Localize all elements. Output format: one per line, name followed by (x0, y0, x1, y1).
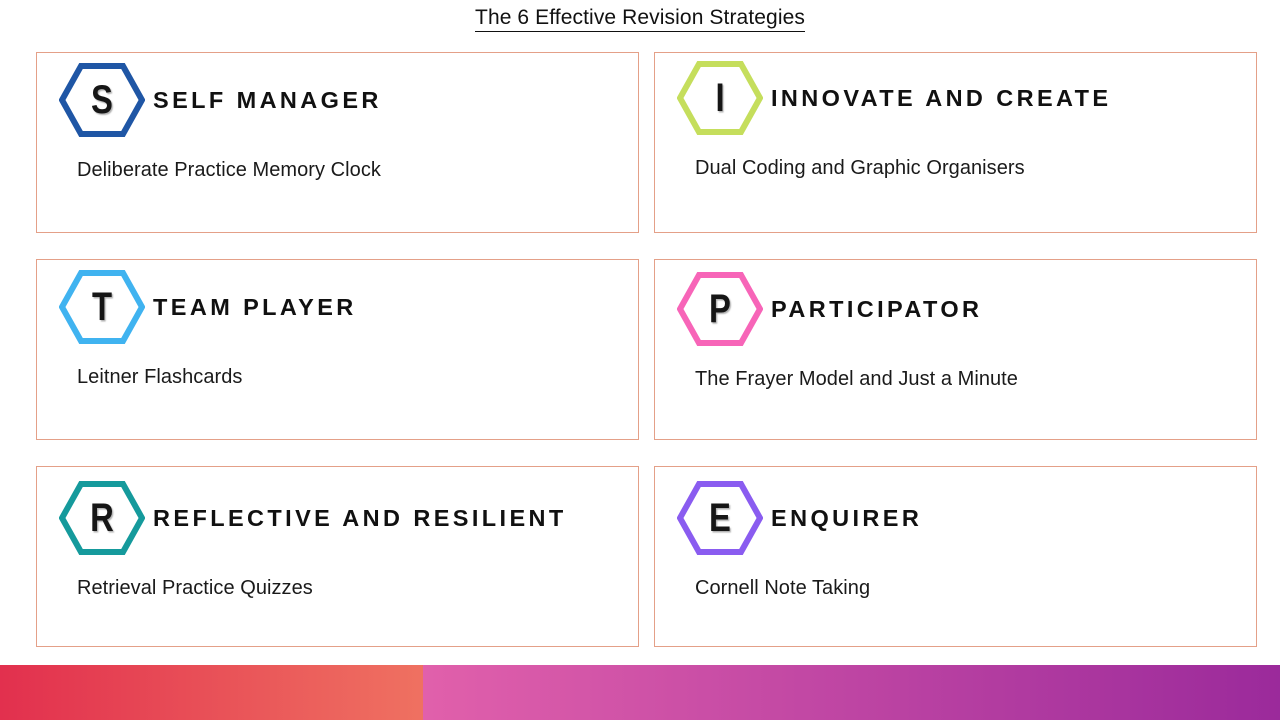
card-title: PARTICIPATOR (771, 296, 982, 323)
slide-canvas: The 6 Effective Revision Strategies S SE… (0, 0, 1280, 720)
strategy-card-reflective-and-resilient[interactable]: R REFLECTIVE AND RESILIENT Retrieval Pra… (36, 466, 639, 647)
strategy-card-innovate-and-create[interactable]: I INNOVATE AND CREATE Dual Coding and Gr… (654, 52, 1257, 233)
card-title: TEAM PLAYER (153, 294, 357, 321)
hexagon-letter: E (685, 479, 756, 557)
card-header: P PARTICIPATOR (677, 270, 982, 348)
card-header: T TEAM PLAYER (59, 268, 357, 346)
card-strategy-text: Deliberate Practice Memory Clock (77, 159, 381, 182)
hexagon-badge-icon: R (59, 479, 145, 557)
hexagon-letter: S (67, 61, 138, 139)
hexagon-badge-icon: T (59, 268, 145, 346)
card-strategy-text: Retrieval Practice Quizzes (77, 577, 313, 600)
strategy-card-self-manager[interactable]: S SELF MANAGER Deliberate Practice Memor… (36, 52, 639, 233)
card-header: R REFLECTIVE AND RESILIENT (59, 479, 567, 557)
footer-band-right (423, 665, 1280, 720)
footer-gradient-band (0, 665, 1280, 720)
card-header: E ENQUIRER (677, 479, 922, 557)
hexagon-letter: R (67, 479, 138, 557)
hexagon-badge-icon: S (59, 61, 145, 139)
card-strategy-text: Dual Coding and Graphic Organisers (695, 157, 1025, 180)
hexagon-letter: T (67, 268, 138, 346)
card-title: SELF MANAGER (153, 87, 382, 114)
card-header: S SELF MANAGER (59, 61, 382, 139)
footer-band-left (0, 665, 423, 720)
card-title: ENQUIRER (771, 505, 922, 532)
strategy-card-enquirer[interactable]: E ENQUIRER Cornell Note Taking (654, 466, 1257, 647)
card-strategy-text: Leitner Flashcards (77, 366, 242, 389)
card-title: INNOVATE AND CREATE (771, 85, 1112, 112)
hexagon-badge-icon: E (677, 479, 763, 557)
strategy-card-team-player[interactable]: T TEAM PLAYER Leitner Flashcards (36, 259, 639, 440)
card-title: REFLECTIVE AND RESILIENT (153, 505, 567, 532)
strategy-card-participator[interactable]: P PARTICIPATOR The Frayer Model and Just… (654, 259, 1257, 440)
hexagon-letter: I (685, 59, 756, 137)
card-strategy-text: Cornell Note Taking (695, 577, 870, 600)
card-header: I INNOVATE AND CREATE (677, 59, 1112, 137)
hexagon-badge-icon: I (677, 59, 763, 137)
hexagon-badge-icon: P (677, 270, 763, 348)
page-title: The 6 Effective Revision Strategies (0, 6, 1280, 32)
card-strategy-text: The Frayer Model and Just a Minute (695, 368, 1018, 391)
strategy-card-grid: S SELF MANAGER Deliberate Practice Memor… (36, 52, 1257, 638)
hexagon-letter: P (685, 270, 756, 348)
page-title-text: The 6 Effective Revision Strategies (475, 6, 805, 32)
